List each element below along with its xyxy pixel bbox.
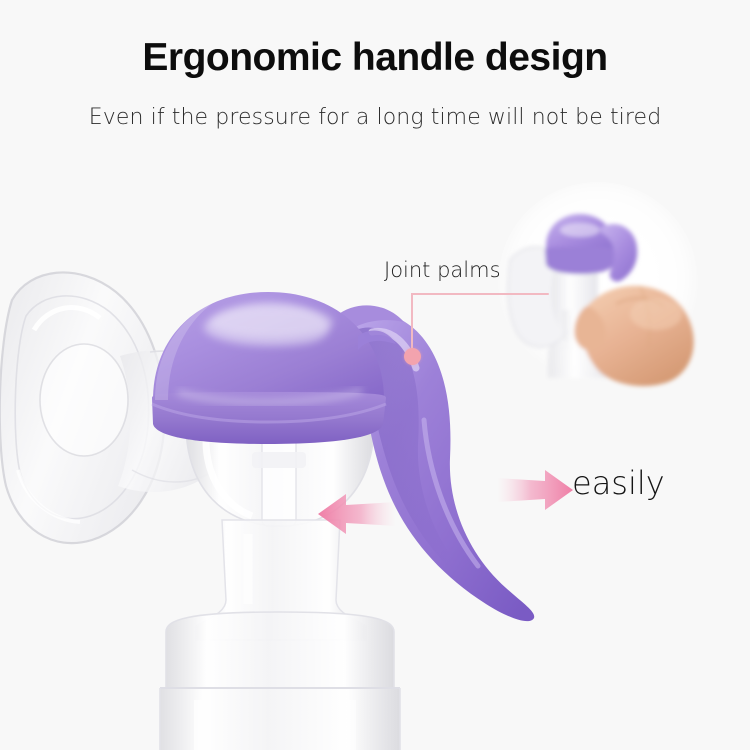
easily-label: easily xyxy=(572,464,665,502)
page-subtitle: Even if the pressure for a long time wil… xyxy=(0,105,750,130)
page-title: Ergonomic handle design xyxy=(0,36,750,80)
pump-body xyxy=(160,424,400,750)
inset-hand-closeup xyxy=(488,182,708,392)
product-feature-banner: Joint palms easily Ergonomic handle desi… xyxy=(0,0,750,750)
callout-label-joint-palms: Joint palms xyxy=(384,258,501,282)
callout-marker-dot xyxy=(404,348,421,365)
